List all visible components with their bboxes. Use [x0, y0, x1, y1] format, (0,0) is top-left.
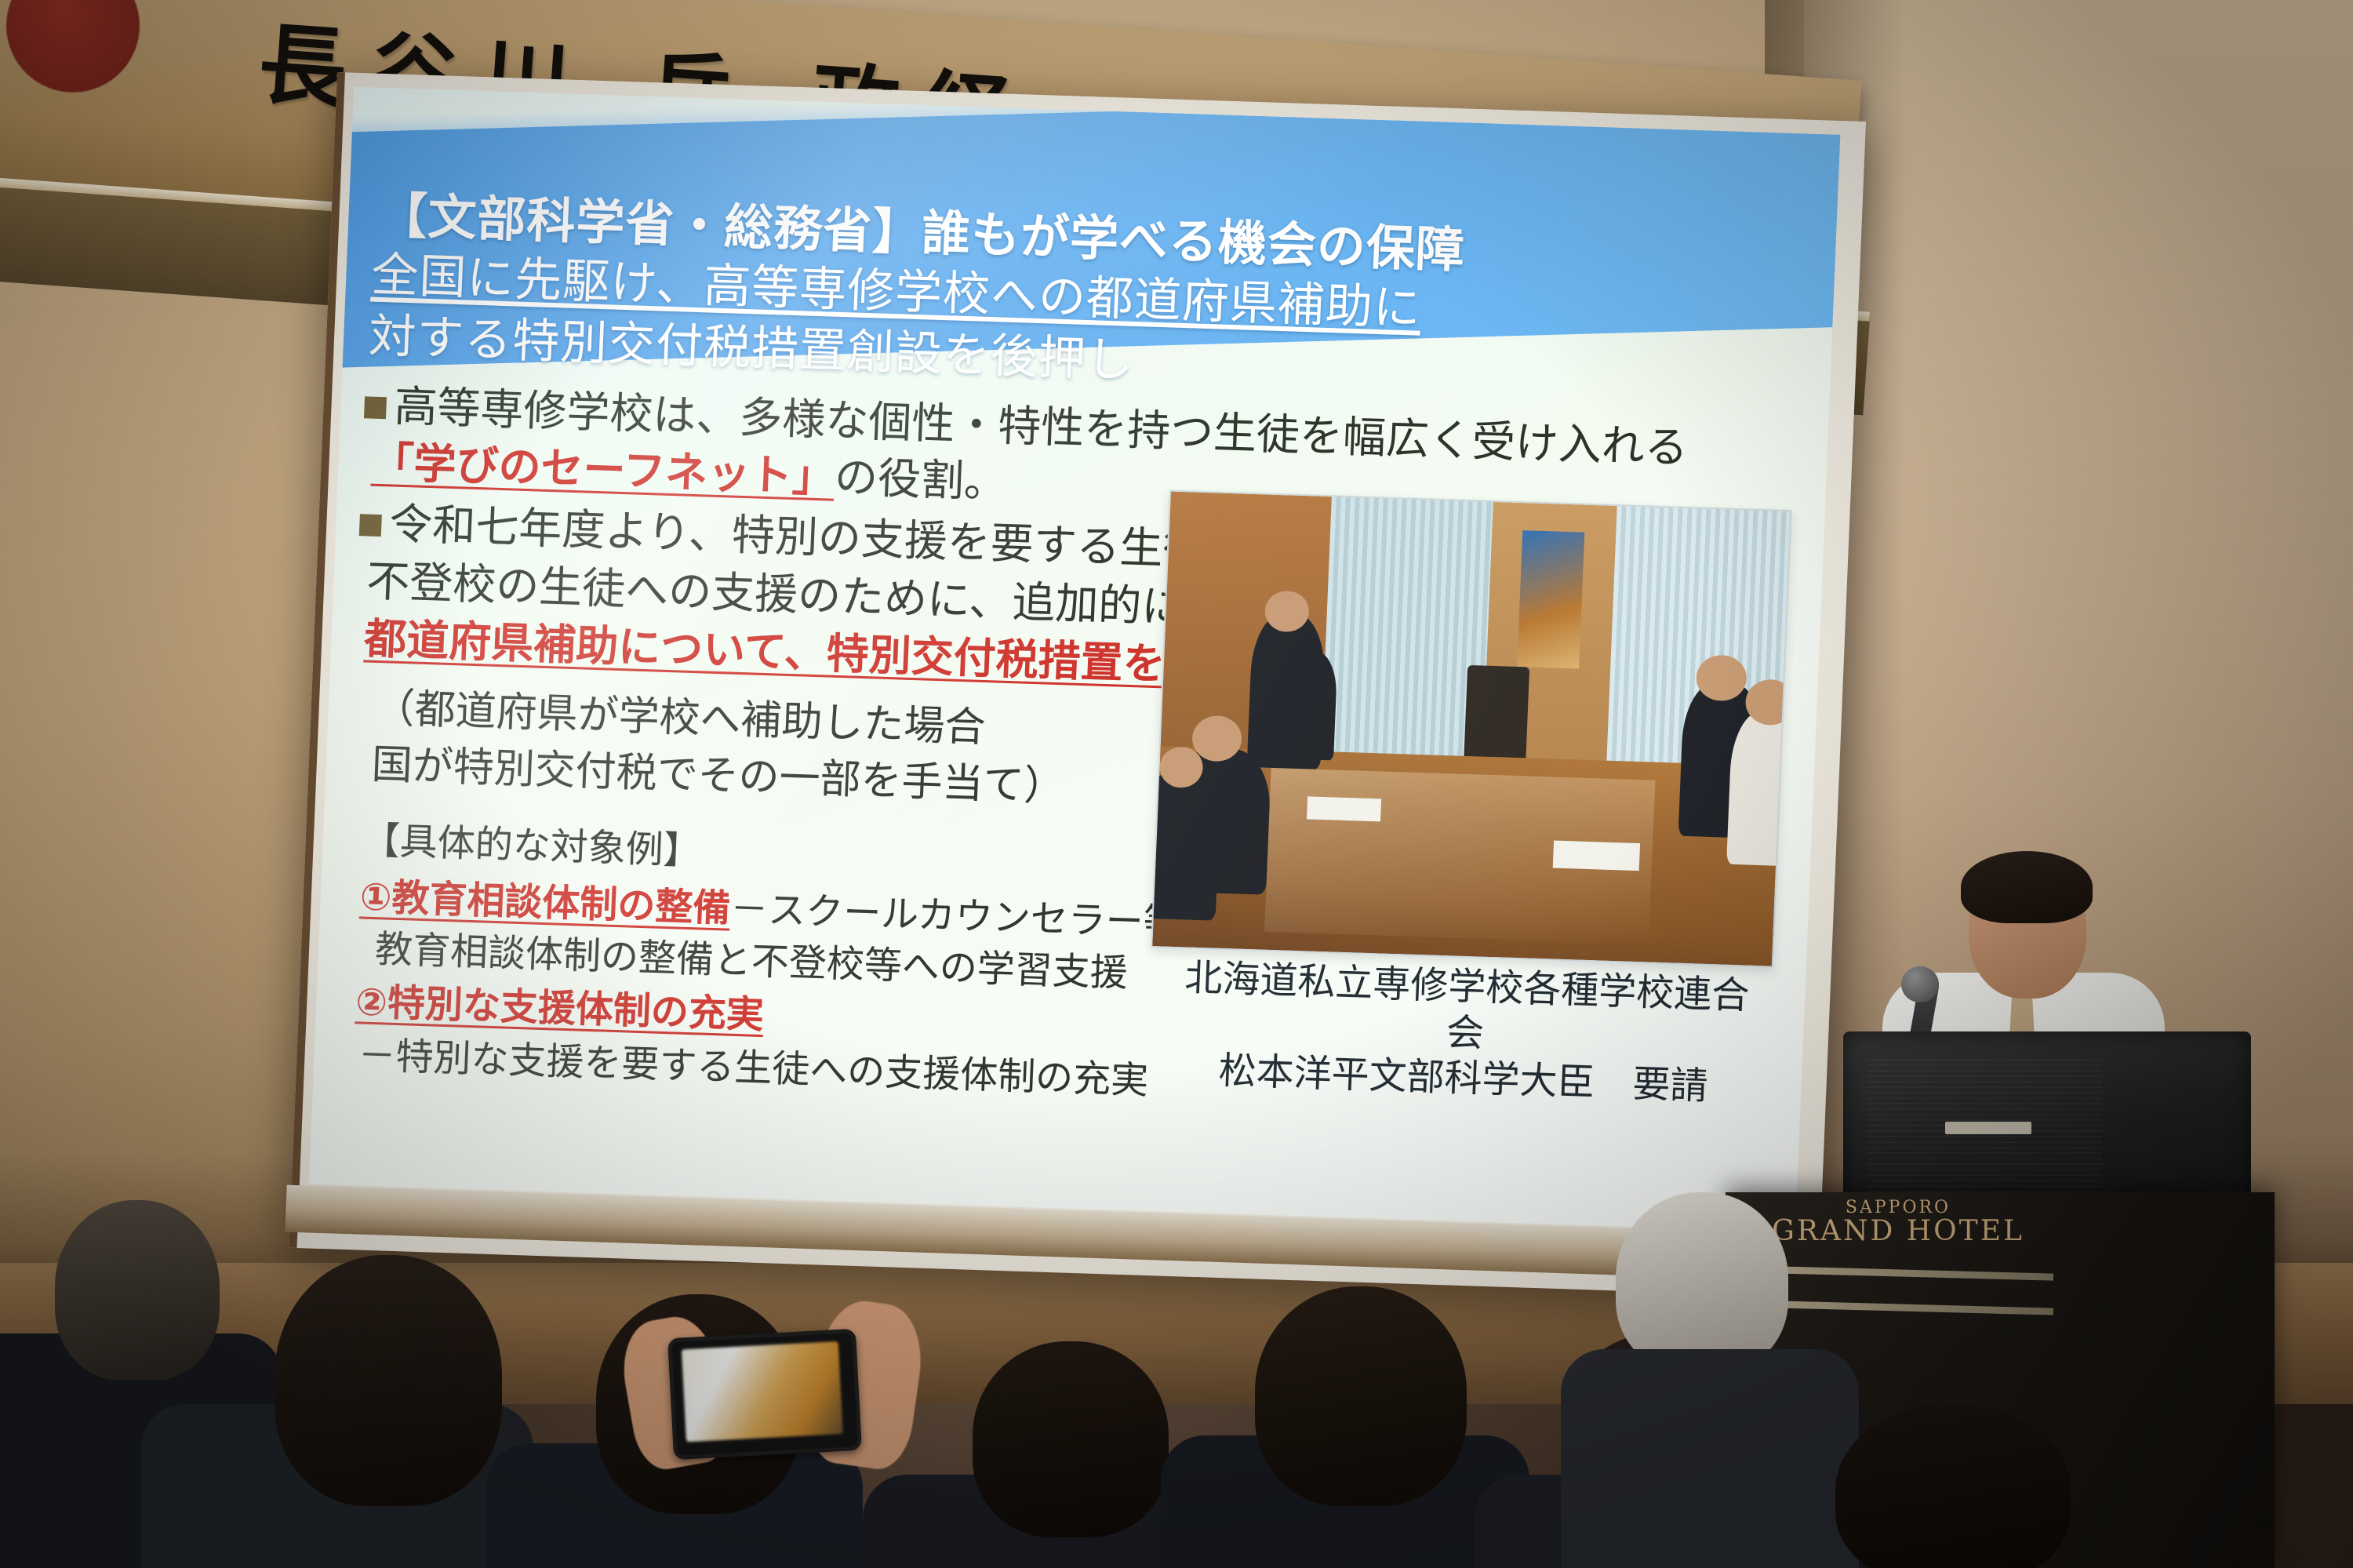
example-2-sub: －特別な支援を要する生徒への支援体制の充実	[357, 1024, 1149, 1104]
monitor-sticker	[1945, 1122, 2031, 1134]
speaker-hair	[1961, 851, 2093, 923]
lectern-logo: SAPPORO GRAND HOTEL	[1769, 1199, 2028, 1246]
square-bullet-icon	[364, 396, 387, 419]
meeting-photo	[1151, 490, 1792, 968]
presentation-slide: 【文部科学省・総務省】誰もが学べる機会の保障 全国に先駆け、高等専修学校への都道…	[309, 87, 1840, 1232]
audience-head-7-grey	[1616, 1192, 1788, 1373]
audience-shoulder-7	[1561, 1349, 1859, 1568]
audience-head-5	[1255, 1286, 1467, 1506]
audience-head-2	[275, 1255, 502, 1506]
audience-smartphone[interactable]	[667, 1329, 862, 1460]
audience-head-1	[55, 1200, 220, 1381]
photo-documents-left	[1307, 796, 1382, 821]
microphone-head-icon	[1901, 966, 1939, 1002]
photo-wall-poster	[1517, 530, 1584, 668]
photo-chair	[1464, 665, 1529, 767]
lectern-logo-line-2: GRAND HOTEL	[1769, 1217, 2028, 1246]
smartphone-screen	[682, 1341, 843, 1442]
examples-heading: 【具体的な対象例】	[362, 809, 703, 875]
audience-head-8	[1835, 1404, 2071, 1568]
photo-documents-right	[1552, 841, 1640, 871]
photo-person-left-3	[1278, 649, 1338, 760]
photo-caption: 北海道私立専修学校各種学校連合会 松本洋平文部科学大臣 要請	[1173, 955, 1758, 1111]
photo-scene: 長谷川 岳 政経 【文部科学省・総務省】誰もが学べる機会の保障 全国に先駆け、高…	[0, 0, 2353, 1568]
projection-screen: 【文部科学省・総務省】誰もが学べる機会の保障 全国に先駆け、高等専修学校への都道…	[289, 72, 1858, 1297]
lectern-logo-line-1: SAPPORO	[1769, 1199, 2028, 1217]
japan-flag-icon	[2, 0, 144, 97]
square-bullet-icon	[359, 514, 382, 537]
bullet-1-line-2-tail: の役割。	[834, 452, 1009, 508]
audience-head-4	[973, 1341, 1169, 1537]
photo-person-left-2	[1151, 773, 1221, 921]
